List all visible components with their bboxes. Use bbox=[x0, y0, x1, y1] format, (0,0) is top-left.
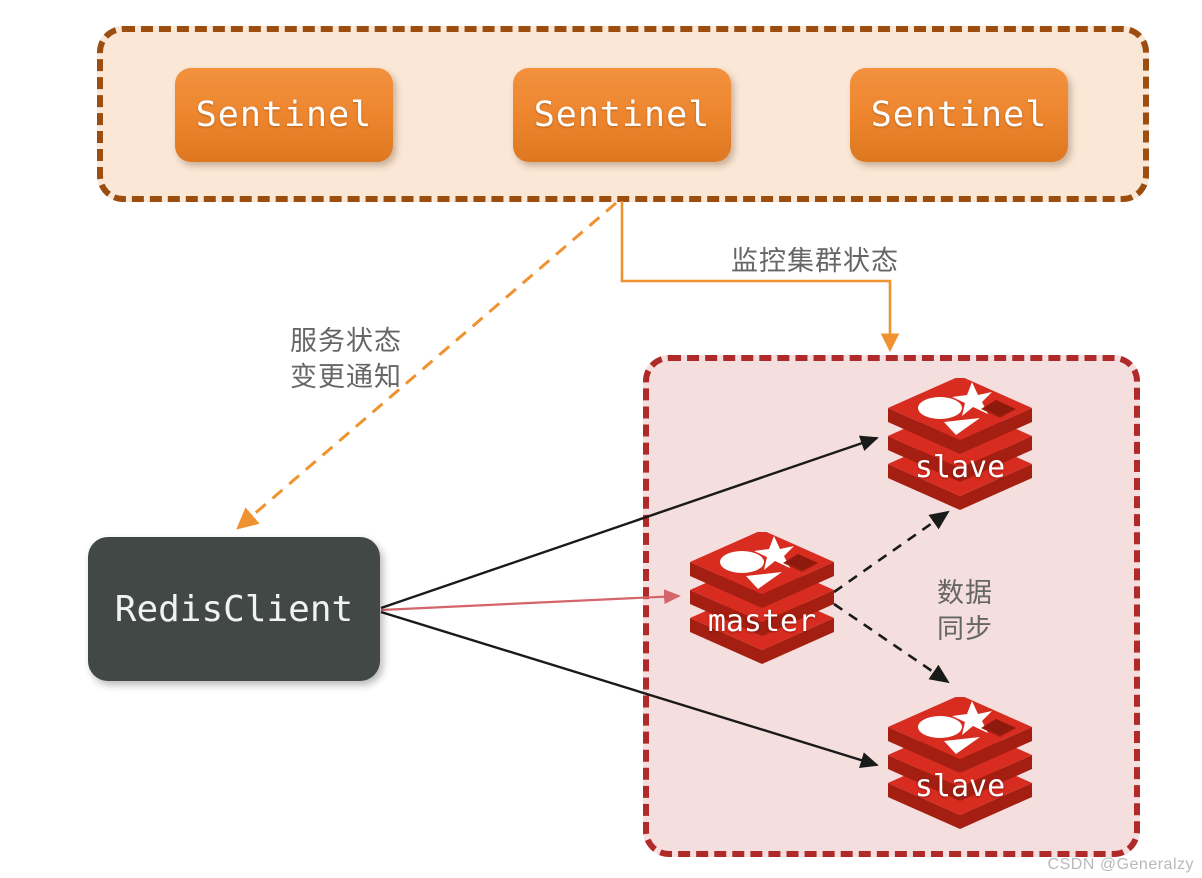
redis-node-slave-top[interactable]: slave bbox=[884, 378, 1036, 514]
annotation-service-notify: 服务状态 变更通知 bbox=[290, 323, 402, 395]
redis-node-master[interactable]: master bbox=[686, 532, 838, 668]
sentinel-node-2[interactable]: Sentinel bbox=[513, 68, 731, 162]
redis-node-slave-bottom[interactable]: slave bbox=[884, 697, 1036, 833]
sentinel-node-1[interactable]: Sentinel bbox=[175, 68, 393, 162]
connector-client-to-master bbox=[381, 596, 679, 610]
redis-client-box[interactable]: RedisClient bbox=[88, 537, 380, 681]
redis-logo-icon bbox=[686, 532, 838, 668]
sentinel-node-3-label: Sentinel bbox=[871, 95, 1048, 135]
sentinel-node-1-label: Sentinel bbox=[196, 95, 373, 135]
diagram-canvas: Sentinel Sentinel Sentinel bbox=[0, 0, 1202, 878]
redis-logo-icon bbox=[884, 697, 1036, 833]
sentinel-node-3[interactable]: Sentinel bbox=[850, 68, 1068, 162]
redis-client-label: RedisClient bbox=[115, 589, 353, 630]
redis-logo-icon bbox=[884, 378, 1036, 514]
watermark-text: CSDN @Generalzy bbox=[1048, 856, 1194, 874]
sentinel-node-2-label: Sentinel bbox=[534, 95, 711, 135]
annotation-data-sync: 数据 同步 bbox=[937, 575, 993, 647]
annotation-monitor-cluster: 监控集群状态 bbox=[731, 243, 899, 279]
